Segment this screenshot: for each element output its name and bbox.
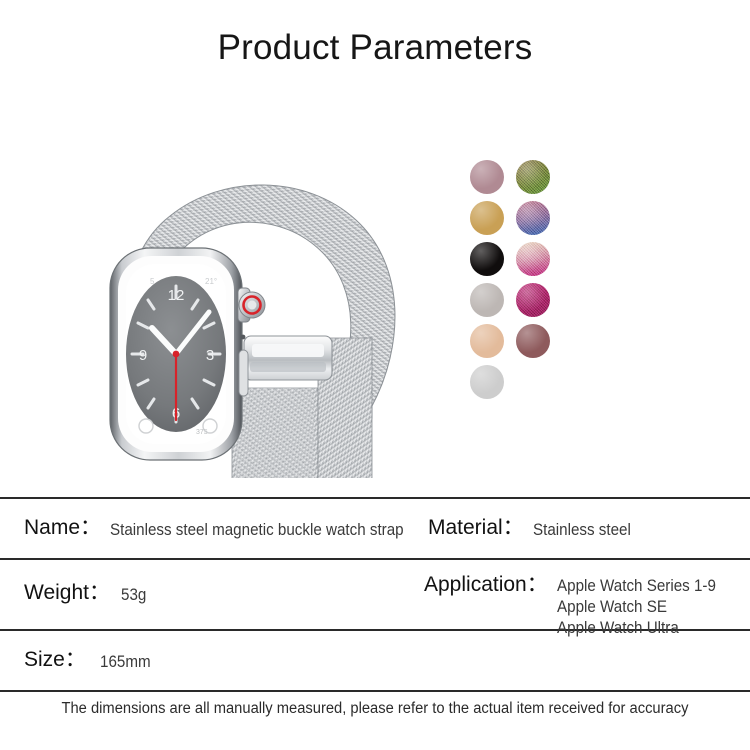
label-application: Application： <box>424 574 548 595</box>
svg-text:5: 5 <box>150 277 155 286</box>
value-weight: 53g <box>121 585 146 606</box>
dial-numeral-12: 12 <box>168 287 185 304</box>
product-photo: 12 3 6 9 5 21° 375 <box>0 88 455 478</box>
swatch-cream-magenta-fade[interactable] <box>516 242 550 276</box>
spec-table: Name： Stainless steel magnetic buckle wa… <box>0 497 750 692</box>
product-parameters-page: Product Parameters <box>0 0 750 750</box>
cell-weight: Weight： 53g <box>24 582 149 603</box>
swatch-silver-gray[interactable] <box>470 365 504 399</box>
cell-material: Material： Stainless steel <box>428 517 639 538</box>
swatch-row <box>470 201 560 235</box>
page-title: Product Parameters <box>0 28 750 68</box>
table-row-name: Name： Stainless steel magnetic buckle wa… <box>0 499 750 558</box>
table-row-size: Size： 165mm <box>0 631 750 690</box>
table-divider <box>0 690 750 692</box>
value-application: Apple Watch Series 1-9 Apple Watch SE Ap… <box>557 576 716 639</box>
footer-note: The dimensions are all manually measured… <box>0 700 750 718</box>
swatch-row <box>470 365 560 399</box>
swatch-beige-tan[interactable] <box>470 324 504 358</box>
application-line: Apple Watch Series 1-9 <box>557 576 716 597</box>
swatch-row <box>470 283 560 317</box>
dial-numeral-3: 3 <box>206 347 214 364</box>
value-size: 165mm <box>100 652 151 673</box>
swatch-row <box>470 242 560 276</box>
dial-numeral-9: 9 <box>139 347 147 364</box>
svg-text:21°: 21° <box>205 277 217 286</box>
swatch-brown-green-fade[interactable] <box>516 160 550 194</box>
application-line: Apple Watch SE <box>557 597 716 618</box>
label-name: Name： <box>24 517 101 538</box>
swatch-black[interactable] <box>470 242 504 276</box>
label-material: Material： <box>428 517 524 538</box>
value-name: Stainless steel magnetic buckle watch st… <box>110 520 404 541</box>
footer-note-text: The dimensions are all manually measured… <box>62 700 689 718</box>
magnetic-buckle <box>244 336 332 380</box>
swatch-row <box>470 160 560 194</box>
swatch-light-warm-gray[interactable] <box>470 283 504 317</box>
swatch-magenta[interactable] <box>516 283 550 317</box>
digital-crown <box>238 288 265 322</box>
cell-name: Name： Stainless steel magnetic buckle wa… <box>24 517 429 538</box>
watch-case: 12 3 6 9 5 21° 375 <box>110 248 242 460</box>
label-size: Size： <box>24 649 86 670</box>
watch-illustration: 12 3 6 9 5 21° 375 <box>0 88 455 478</box>
swatch-mauve-rose[interactable] <box>470 160 504 194</box>
table-row-weight: Weight： 53g Application： Apple Watch Ser… <box>0 560 750 629</box>
swatch-gold[interactable] <box>470 201 504 235</box>
value-material: Stainless steel <box>533 520 631 541</box>
swatch-dark-mauve-brown[interactable] <box>516 324 550 358</box>
cell-size: Size： 165mm <box>24 649 155 670</box>
swatch-row <box>470 324 560 358</box>
label-weight: Weight： <box>24 582 110 603</box>
cell-application: Application： Apple Watch Series 1-9 Appl… <box>424 574 729 637</box>
swatch-pink-blue-fade[interactable] <box>516 201 550 235</box>
color-swatch-grid <box>470 160 560 406</box>
